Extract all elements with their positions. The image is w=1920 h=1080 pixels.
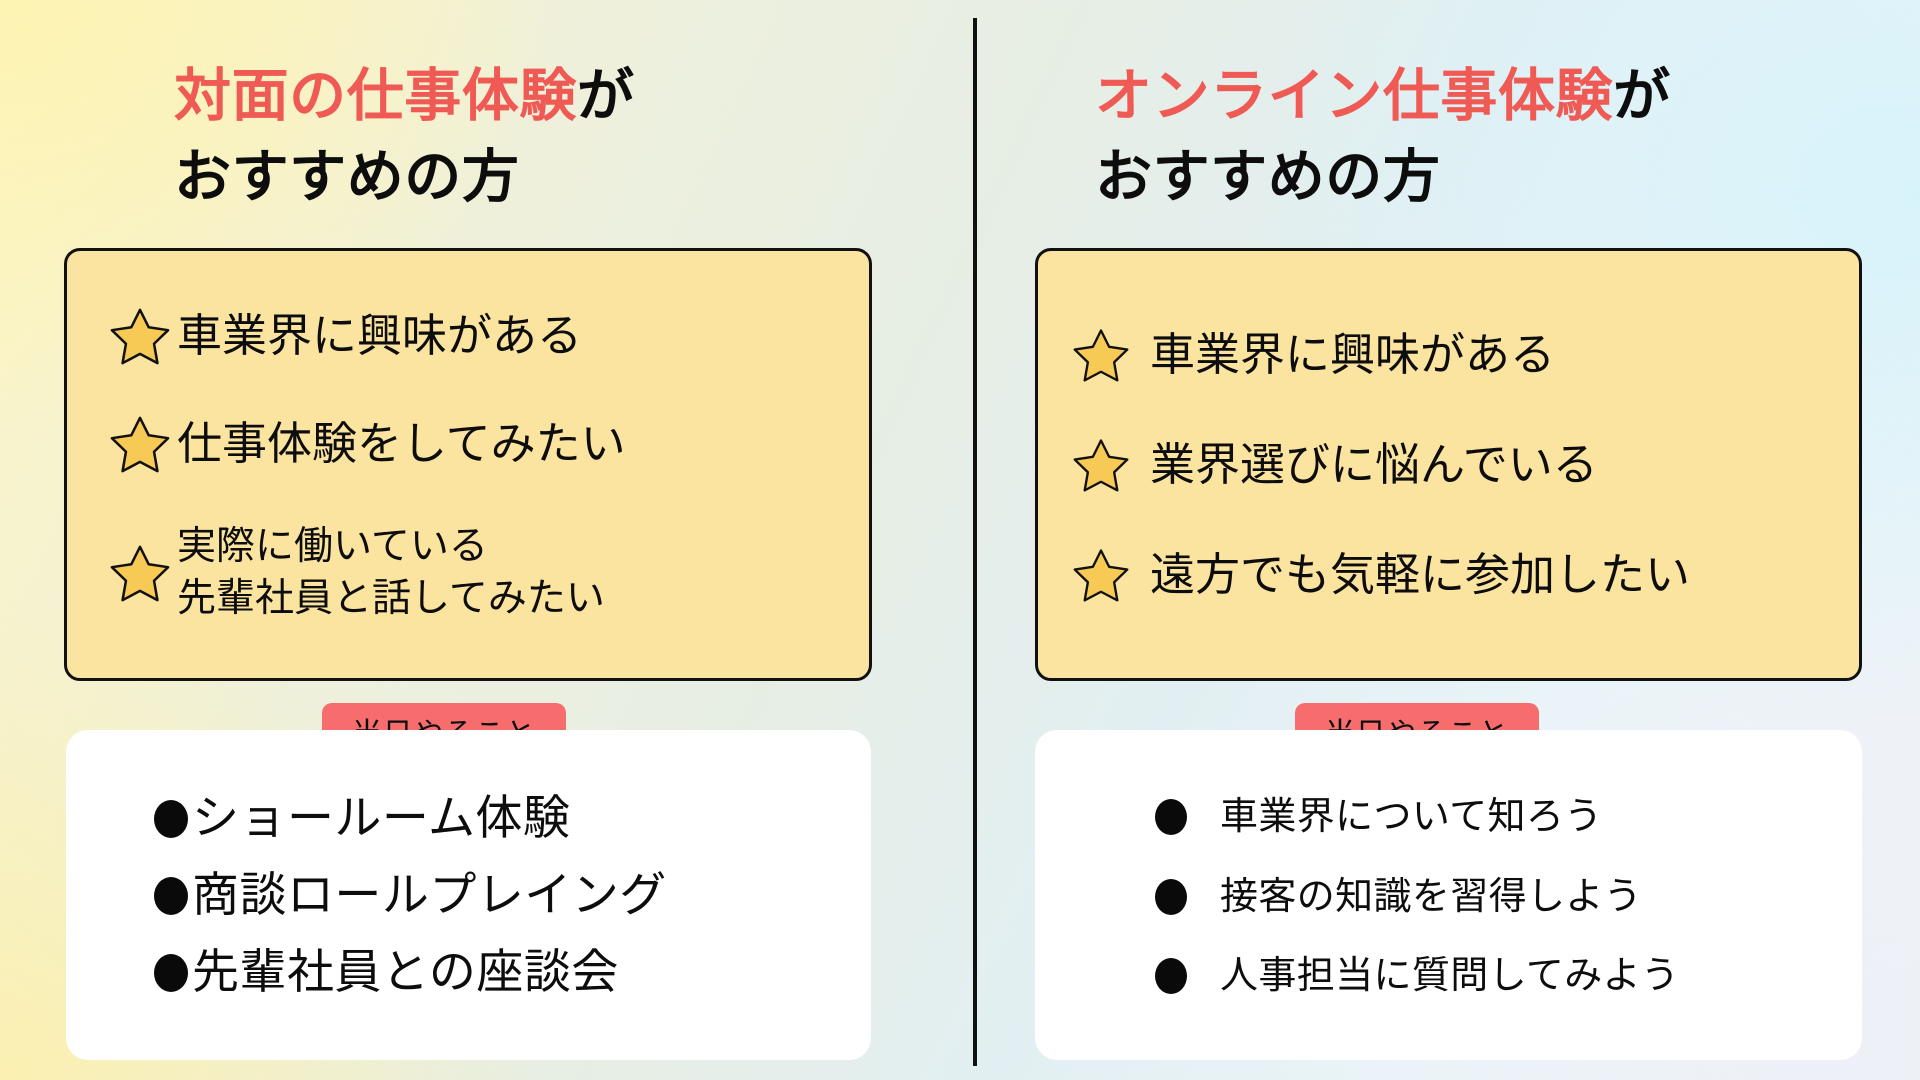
page-title-accent-online: オンライン仕事体験	[1095, 63, 1613, 129]
star-icon	[109, 542, 171, 604]
list-item: 車業界に興味がある	[67, 305, 869, 367]
list-item-label: 業界選びに悩んでいる	[1150, 436, 1598, 494]
list-item: 業界選びに悩んでいる	[1038, 436, 1859, 494]
page-title-line2-online: おすすめの方	[1095, 144, 1440, 210]
page-title-accent-offline: 対面の仕事体験	[174, 63, 577, 129]
filled-circle-icon	[1155, 958, 1187, 994]
list-item-label: 商談ロールプレイング	[192, 869, 667, 923]
list-item: 車業界に興味がある	[1038, 326, 1859, 384]
filled-circle-icon	[154, 800, 188, 838]
agenda-list-online: 車業界について知ろう 接客の知識を習得しよう 人事担当に質問してみよう	[1035, 795, 1920, 1034]
list-item-label: 先輩社員との座談会	[192, 946, 619, 1000]
page-title-suffix-online: が	[1613, 63, 1671, 129]
list-item: 仕事体験をしてみたい	[67, 413, 869, 475]
star-icon	[1072, 436, 1130, 494]
filled-circle-icon	[1155, 799, 1187, 835]
list-item: 商談ロールプレイング	[154, 869, 948, 923]
column-online: オンライン仕事体験がおすすめの方 車業界に興味がある 業界選びに悩んでいる	[1035, 0, 1920, 1080]
page-title-online: オンライン仕事体験がおすすめの方	[1035, 56, 1920, 218]
agenda-list-offline: ショールーム体験 商談ロールプレイング 先輩社員との座談会	[48, 792, 948, 1023]
list-item-label: ショールーム体験	[192, 792, 570, 846]
column-offline: 対面の仕事体験がおすすめの方 車業界に興味がある 仕事体験をしてみたい	[48, 0, 948, 1080]
list-item-label: 車業界について知ろう	[1220, 795, 1603, 839]
list-item: 車業界について知ろう	[1155, 795, 1920, 839]
filled-circle-icon	[1155, 879, 1187, 915]
list-item: 人事担当に質問してみよう	[1155, 954, 1920, 998]
filled-circle-icon	[154, 954, 188, 992]
recommend-list-offline: 車業界に興味がある 仕事体験をしてみたい 実際に働いている 先輩社員と話してみた…	[67, 251, 869, 678]
page-title-line2-offline: おすすめの方	[174, 144, 519, 210]
list-item: 実際に働いている 先輩社員と話してみたい	[67, 521, 869, 624]
star-icon	[1072, 546, 1130, 604]
list-item-label: 車業界に興味がある	[1150, 326, 1555, 384]
list-item: 遠方でも気軽に参加したい	[1038, 546, 1859, 604]
star-icon	[109, 305, 171, 367]
list-item-label: 車業界に興味がある	[177, 307, 582, 365]
star-icon	[109, 413, 171, 475]
list-item-label: 接客の知識を習得しよう	[1220, 875, 1642, 919]
recommend-box-online: 車業界に興味がある 業界選びに悩んでいる 遠方でも気軽に参加したい	[1035, 248, 1862, 681]
page-title-offline: 対面の仕事体験がおすすめの方	[48, 56, 1054, 218]
slide-canvas: 対面の仕事体験がおすすめの方 車業界に興味がある 仕事体験をしてみたい	[0, 0, 1920, 1080]
list-item-label: 人事担当に質問してみよう	[1220, 954, 1679, 998]
recommend-list-online: 車業界に興味がある 業界選びに悩んでいる 遠方でも気軽に参加したい	[1038, 251, 1859, 678]
recommend-box-offline: 車業界に興味がある 仕事体験をしてみたい 実際に働いている 先輩社員と話してみた…	[64, 248, 872, 681]
list-item: 接客の知識を習得しよう	[1155, 875, 1920, 919]
page-title-suffix-offline: が	[577, 63, 635, 129]
list-item: ショールーム体験	[154, 792, 948, 846]
star-icon	[1072, 326, 1130, 384]
list-item-label: 実際に働いている 先輩社員と話してみたい	[177, 521, 605, 624]
list-item: 先輩社員との座談会	[154, 946, 948, 1000]
list-item-label: 遠方でも気軽に参加したい	[1150, 546, 1690, 604]
filled-circle-icon	[154, 877, 188, 915]
list-item-label: 仕事体験をしてみたい	[177, 415, 626, 473]
